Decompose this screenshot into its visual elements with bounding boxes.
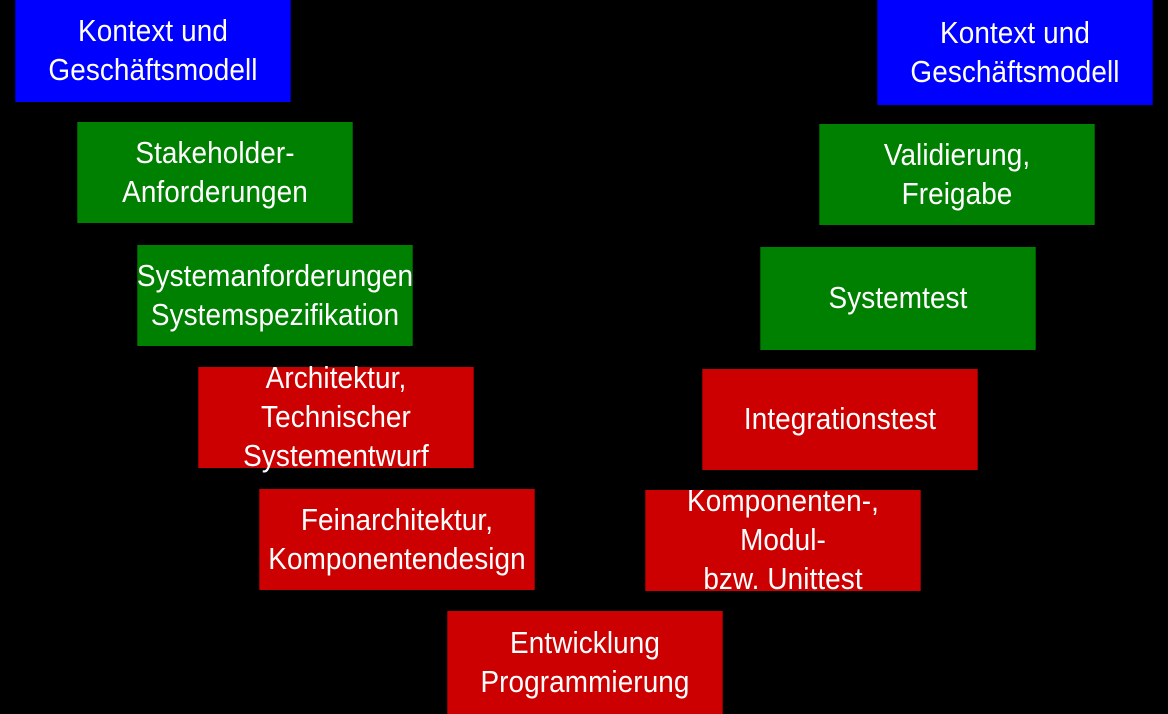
box-komponenten-modul-bzw-unittest[interactable]: Komponenten-, Modul- bzw. Unittest (645, 490, 920, 591)
box-architektur-technischer-systementwurf[interactable]: Architektur, Technischer Systementwurf (198, 367, 473, 468)
box-systemtest[interactable]: Systemtest (760, 247, 1035, 350)
box-label: Entwicklung Programmierung (480, 624, 689, 702)
v-model-diagram: Kontext und Geschäftsmodell Stakeholder-… (0, 0, 1168, 714)
box-label: Stakeholder- Anforderungen (122, 134, 308, 212)
box-integrationstest[interactable]: Integrationstest (702, 369, 977, 470)
box-label: Kontext und Geschäftsmodell (910, 14, 1119, 92)
box-label: Architektur, Technischer Systementwurf (207, 359, 464, 475)
box-entwicklung-programmierung[interactable]: Entwicklung Programmierung (447, 611, 722, 714)
box-label: Systemtest (829, 279, 968, 318)
box-label: Feinarchitektur, Komponentendesign (268, 501, 525, 579)
box-feinarchitektur-komponentendesign[interactable]: Feinarchitektur, Komponentendesign (259, 489, 534, 590)
box-label: Komponenten-, Modul- bzw. Unittest (654, 482, 911, 598)
box-stakeholder-anforderungen[interactable]: Stakeholder- Anforderungen (77, 122, 352, 223)
box-systemanforderungen-systemspezifikation[interactable]: Systemanforderungen Systemspezifikation (137, 245, 412, 346)
box-validierung-freigabe[interactable]: Validierung, Freigabe (819, 124, 1094, 225)
box-kontext-und-geschaeftsmodell-right[interactable]: Kontext und Geschäftsmodell (877, 0, 1152, 105)
box-label: Validierung, Freigabe (828, 136, 1085, 214)
box-label: Kontext und Geschäftsmodell (48, 12, 257, 90)
box-label: Systemanforderungen Systemspezifikation (137, 257, 413, 335)
box-kontext-und-geschaeftsmodell-left[interactable]: Kontext und Geschäftsmodell (15, 0, 290, 102)
box-label: Integrationstest (744, 400, 936, 439)
